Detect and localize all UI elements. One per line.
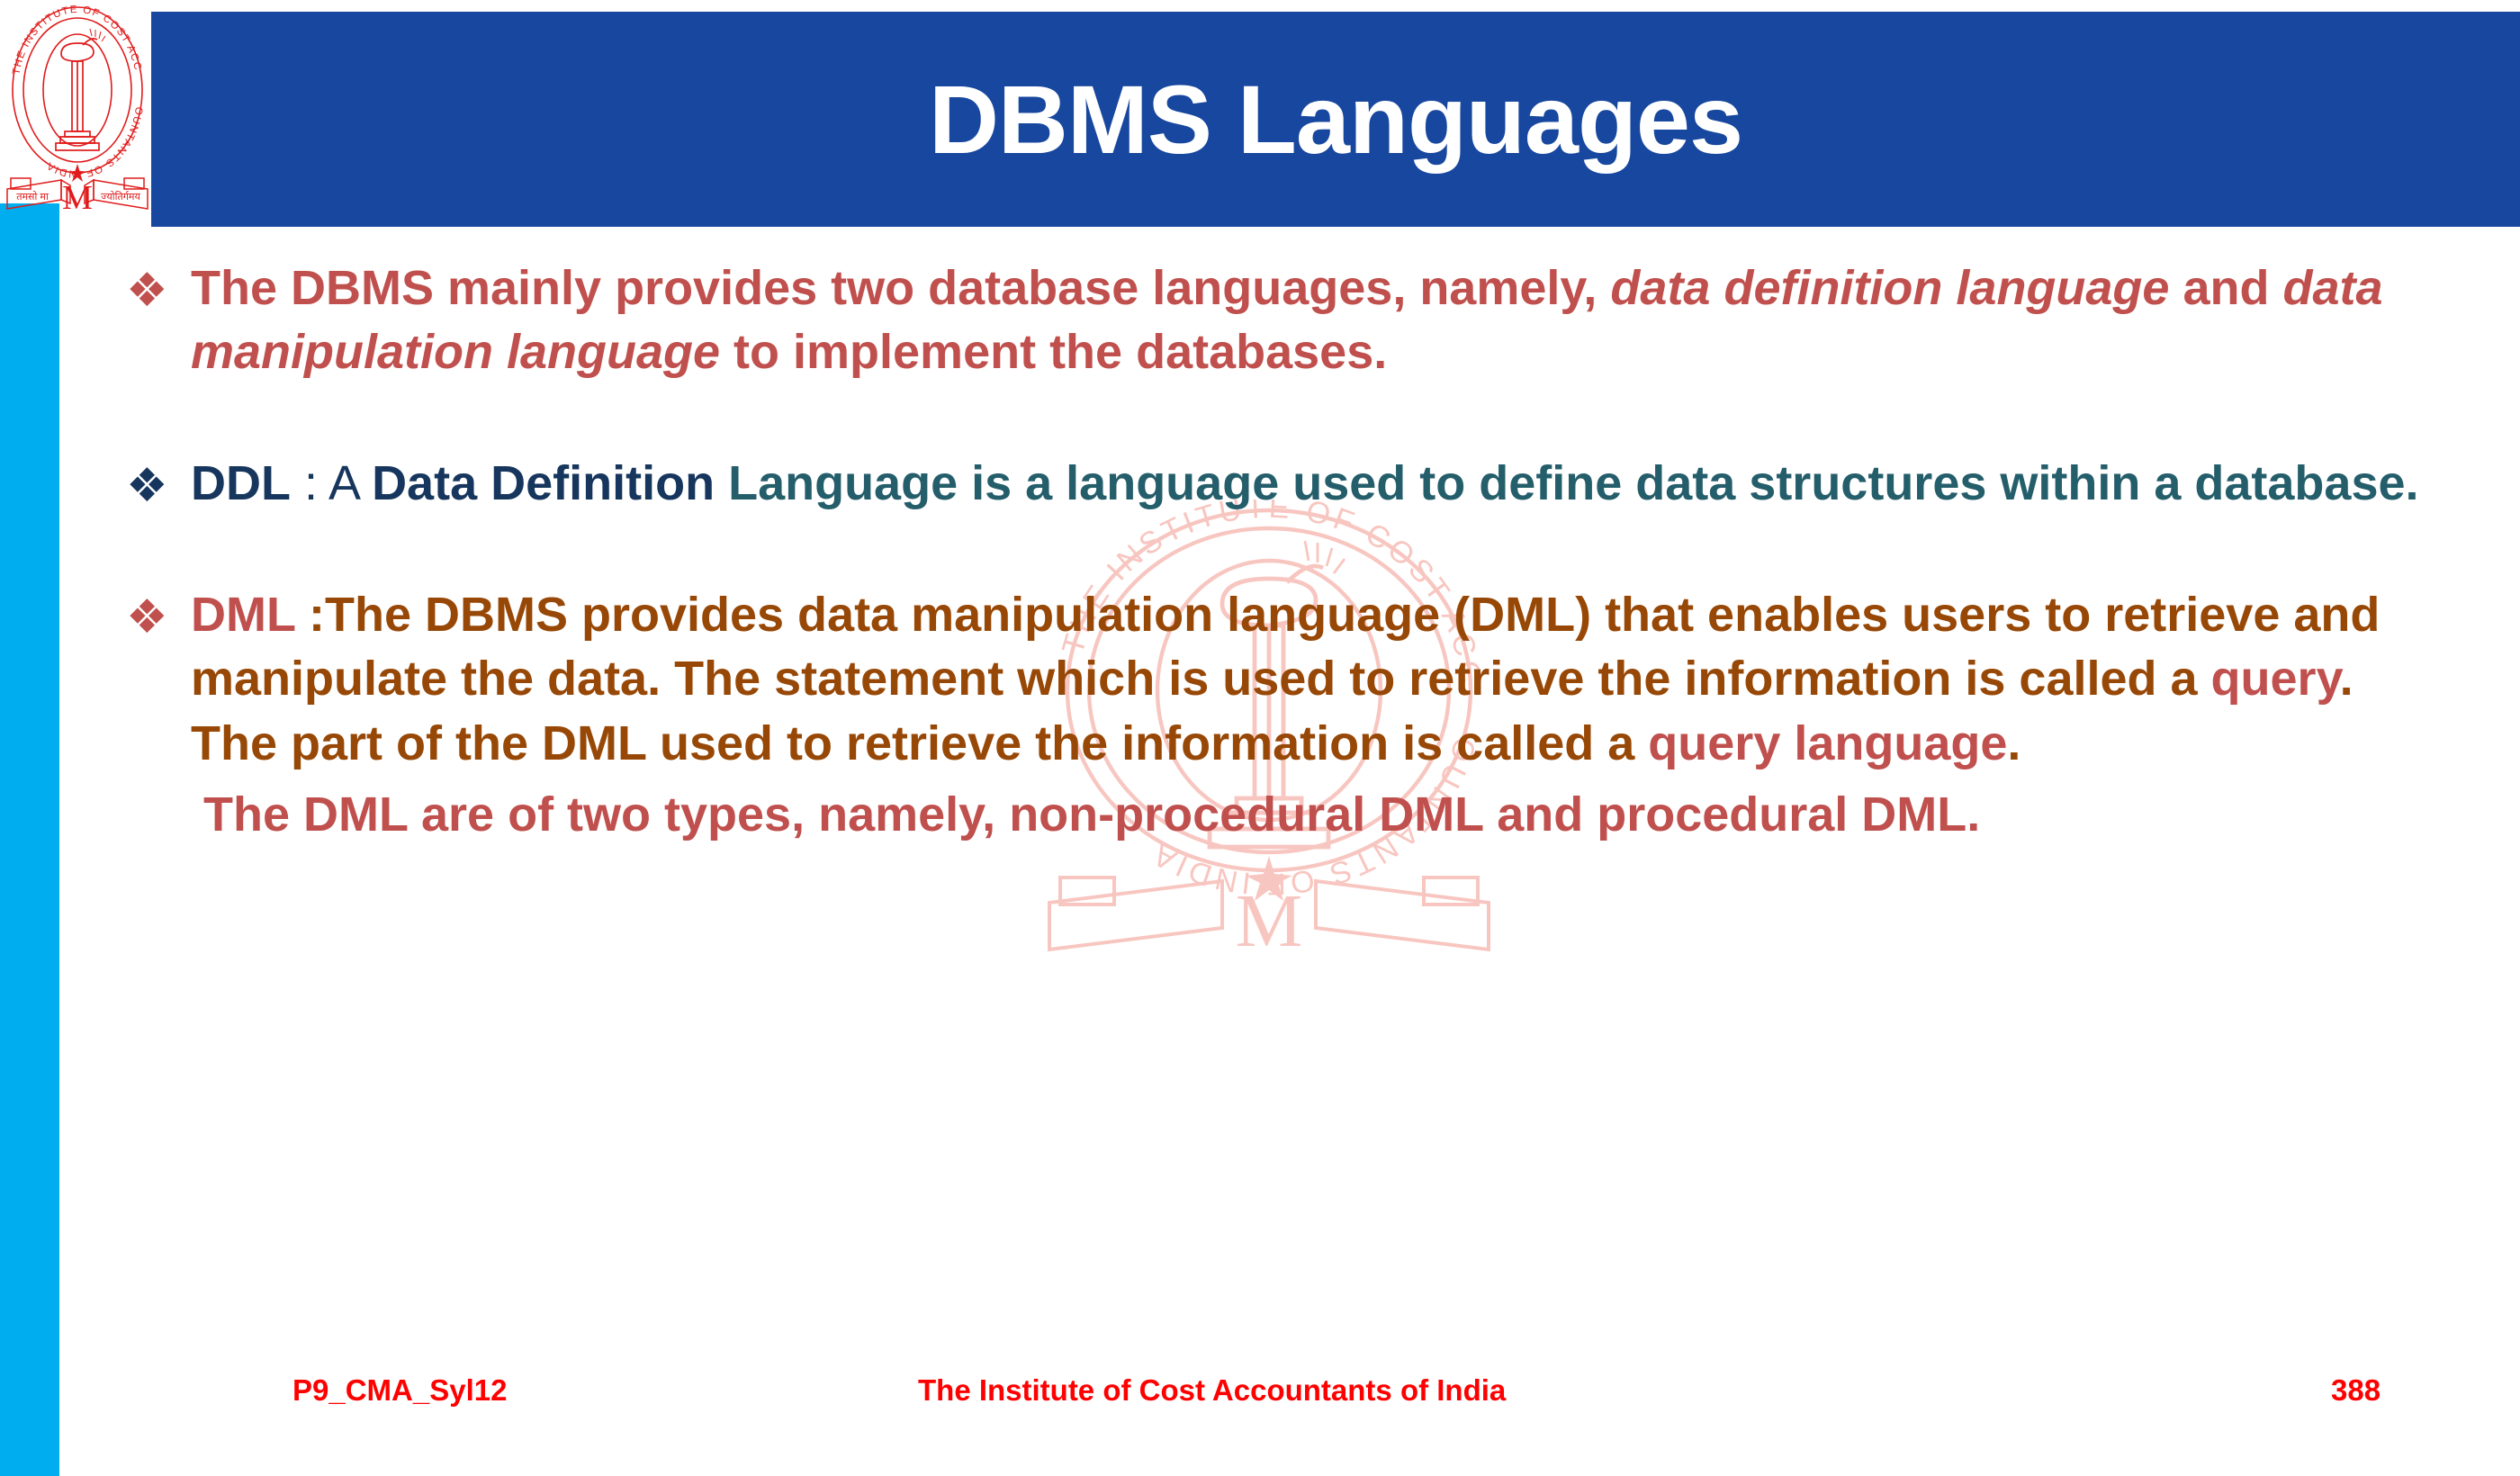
bullet-3-seg-1: :The DBMS provides data manipulation lan… [191,588,2380,706]
bullet-diamond-icon: ❖ [126,452,191,517]
spacer-3 [126,776,2430,783]
bullet-2-text: DDL : A Data Definition Language is a la… [191,452,2430,516]
spacer-2 [126,517,2430,583]
bullet-databases-languages: ❖ The DBMS mainly provides two database … [126,256,2430,385]
left-accent-stripe [0,203,59,1476]
bullet-3-text: DML :The DBMS provides data manipulation… [191,583,2430,776]
svg-text:तमसो मा: तमसो मा [16,191,49,202]
svg-text:M: M [62,179,93,217]
bullet-1-seg-0: The DBMS mainly provides two database la… [191,261,1610,315]
bullet-3-seg-2: query [2211,652,2340,706]
bullet-ddl: ❖ DDL : A Data Definition Language is a … [126,452,2430,517]
tail-indent-spacer [126,783,191,787]
bullet-diamond-icon: ❖ [126,583,191,649]
tail-paragraph-row: The DML are of two types, namely, non-pr… [126,783,2430,847]
bullet-3-seg-5: . [2007,716,2020,770]
bullet-2-seg-3: Language is a language used to define da… [715,456,2418,510]
tail-paragraph: The DML are of two types, namely, non-pr… [191,783,1980,847]
bullet-1-seg-4: to implement the databases. [720,325,1387,379]
bullet-2-seg-1: : A [291,456,372,510]
bullet-2-seg-0: DDL [191,456,291,510]
slide-footer: P9_CMA_Syl12 The Institute of Cost Accou… [0,1373,2520,1436]
bullet-diamond-icon: ❖ [126,256,191,322]
bullet-3-seg-4: query language [1648,716,2007,770]
bullet-2-seg-2: Data Definition [372,456,715,510]
bullet-1-seg-2: and [2169,261,2282,315]
slide-canvas: DBMS Languages THE INSTITUTE OF COST ACC… [0,0,2520,1476]
bullet-dml: ❖ DML :The DBMS provides data manipulati… [126,583,2430,776]
footer-syllabus-code: P9_CMA_Syl12 [292,1373,507,1408]
svg-text:M: M [1236,879,1303,958]
footer-institute-name: The Institute of Cost Accountants of Ind… [918,1373,1506,1408]
spacer-1 [126,385,2430,452]
slide-body: ❖ The DBMS mainly provides two database … [126,256,2430,847]
svg-text:ज्योतिर्गमय: ज्योतिर्गमय [101,191,140,202]
bullet-1-text: The DBMS mainly provides two database la… [191,256,2430,385]
page-title: DBMS Languages [151,12,2520,227]
bullet-3-seg-0: DML [191,588,309,642]
bullet-1-seg-1: data definition language [1610,261,2169,315]
footer-page-number: 388 [2331,1373,2380,1408]
institute-logo: THE INSTITUTE OF COST ACC OUNTANTS OF IN… [5,0,149,225]
